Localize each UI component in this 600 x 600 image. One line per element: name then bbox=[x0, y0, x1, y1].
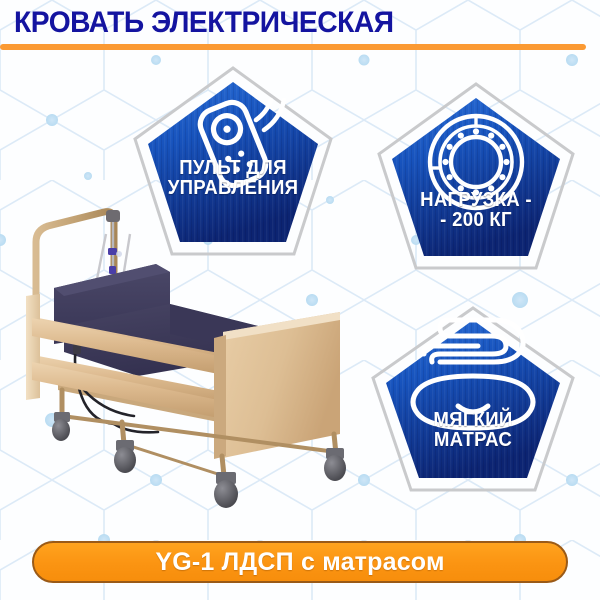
badge-soft-mattress: МЯГКИЙ МАТРАС bbox=[366, 302, 580, 502]
product-name-banner: YG-1 ЛДСП с матрасом bbox=[32, 541, 568, 583]
badge-remote-control: ПУЛЬТ ДЛЯ УПРАВЛЕНИЯ bbox=[128, 62, 338, 267]
title-divider-rule bbox=[0, 44, 586, 50]
product-name-text: YG-1 ЛДСП с матрасом bbox=[155, 548, 444, 577]
infographic-canvas: КРОВАТЬ ЭЛЕКТРИЧЕСКАЯ bbox=[0, 0, 600, 600]
page-title: КРОВАТЬ ЭЛЕКТРИЧЕСКАЯ bbox=[14, 6, 394, 40]
badge-load-capacity: НАГРУЗКА - - 200 КГ bbox=[372, 78, 580, 281]
